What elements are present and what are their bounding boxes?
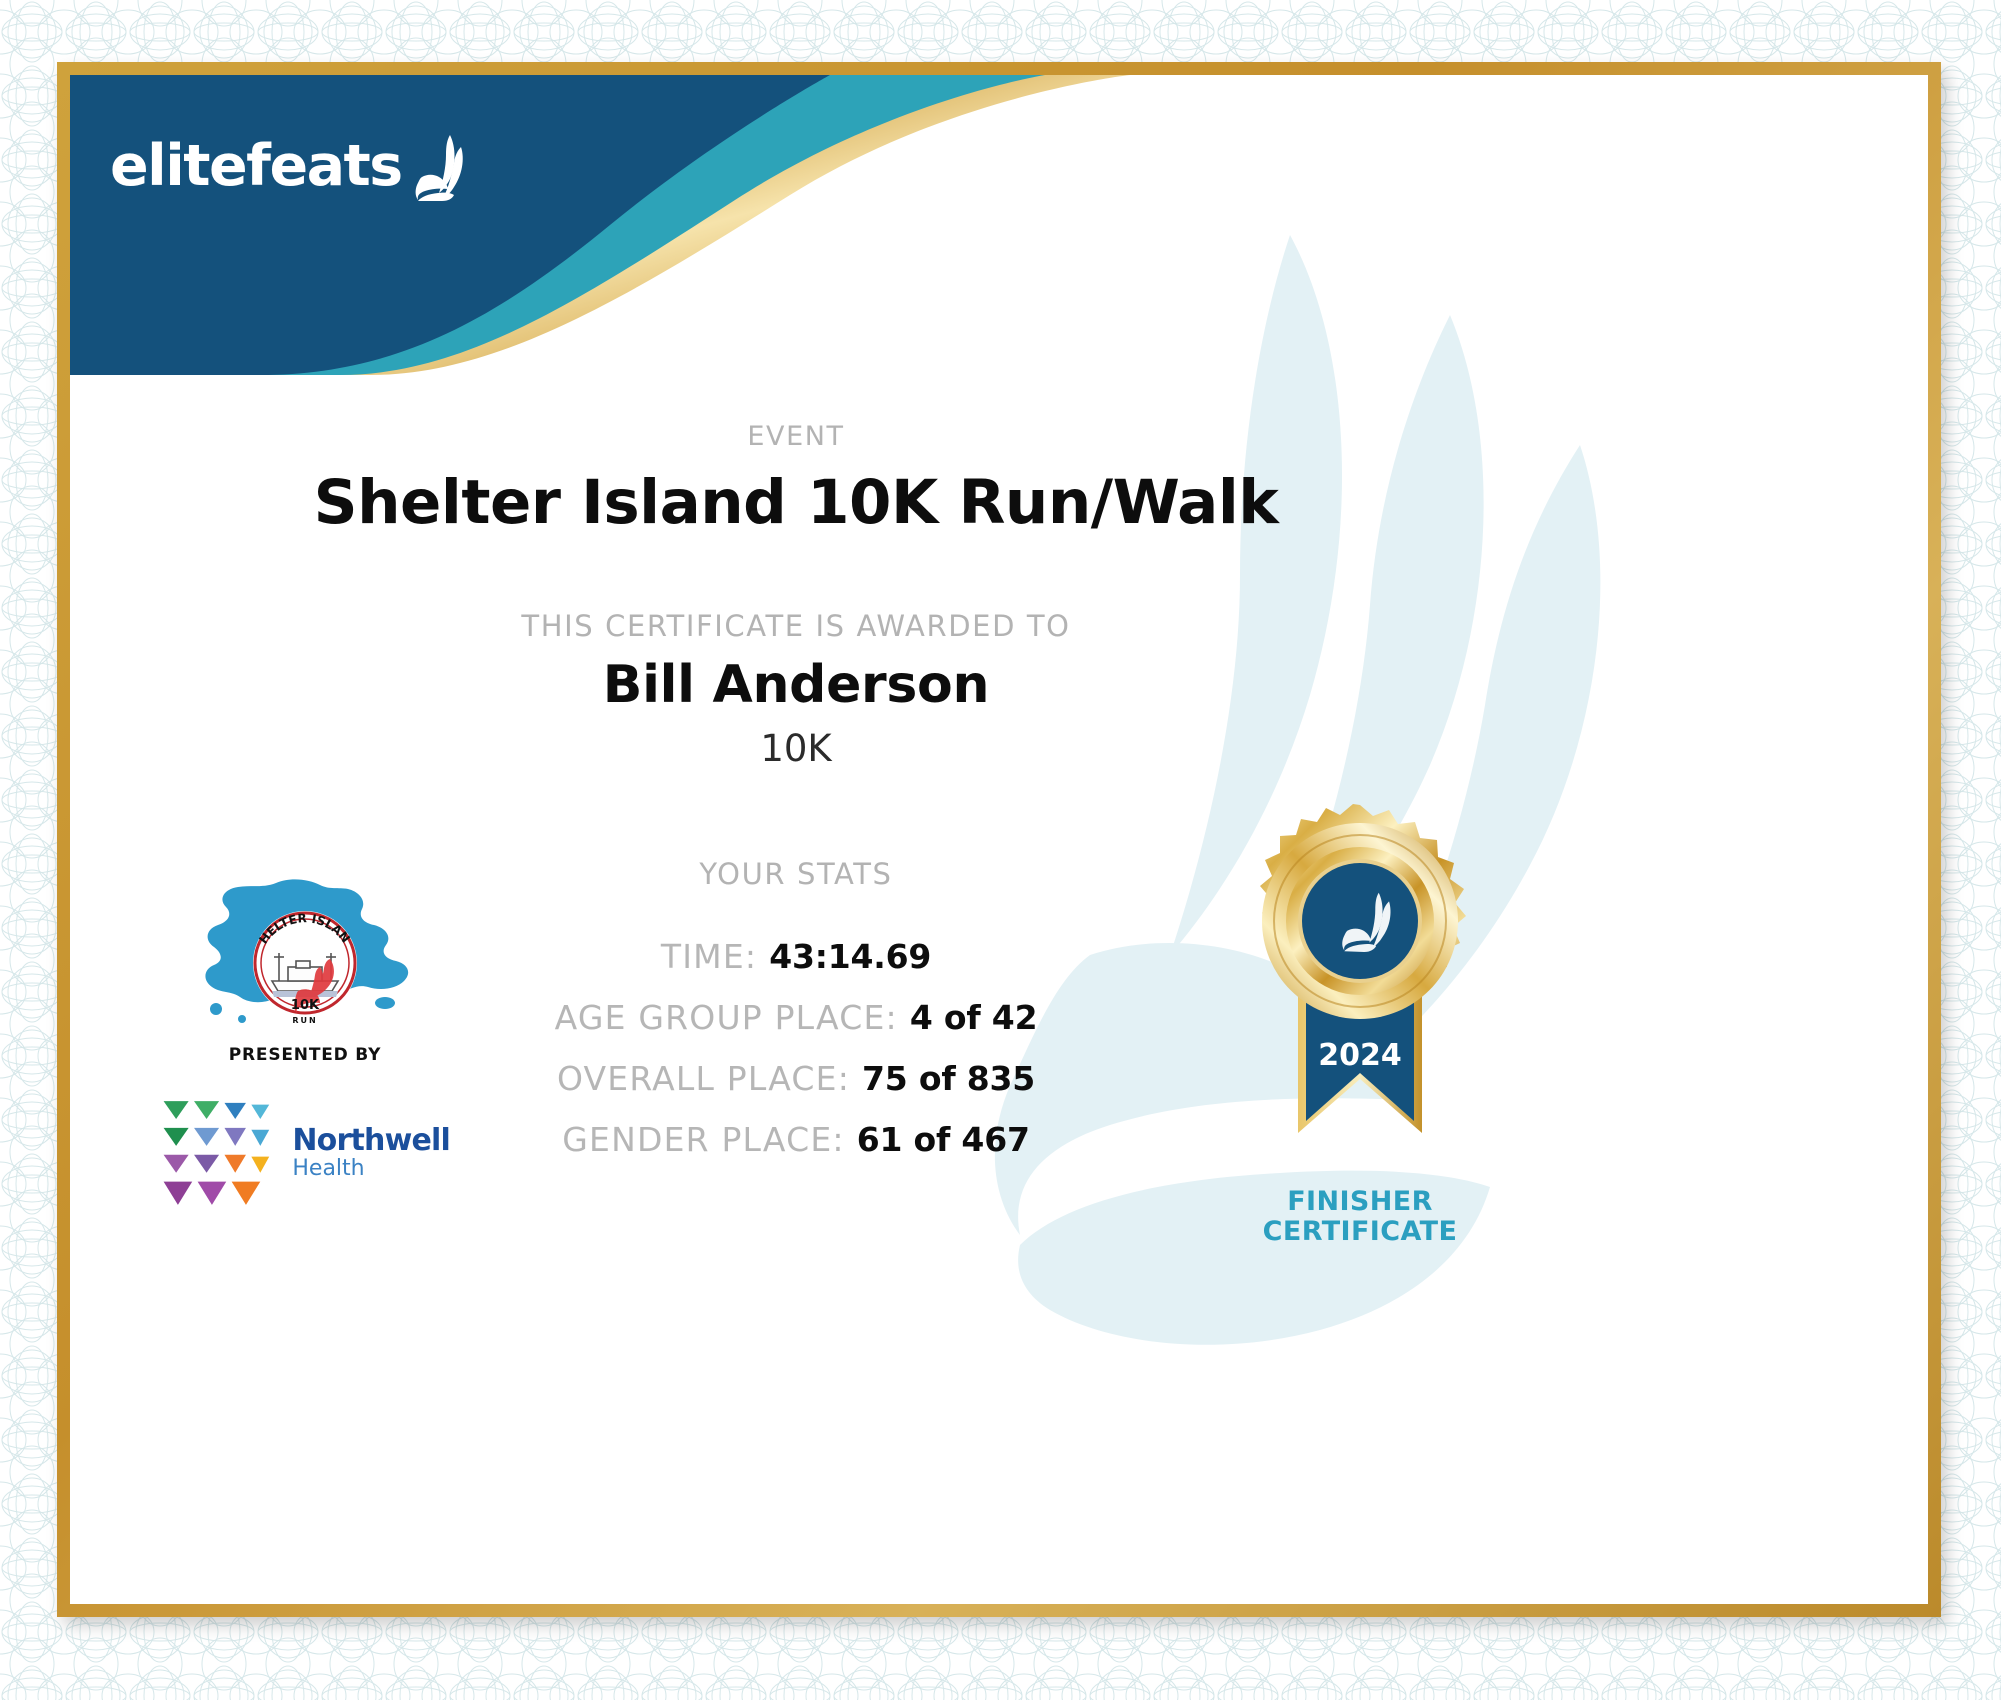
elitefeats-logo: elitefeats xyxy=(110,133,468,195)
certificate-content: EVENT Shelter Island 10K Run/Walk THIS C… xyxy=(70,75,1928,1604)
awarded-to-label: THIS CERTIFICATE IS AWARDED TO xyxy=(70,609,1522,643)
event-title: Shelter Island 10K Run/Walk xyxy=(70,467,1522,538)
event-label: EVENT xyxy=(70,421,1522,452)
finisher-caption: FINISHER CERTIFICATE xyxy=(1210,1187,1510,1247)
stat-key: OVERALL PLACE: xyxy=(557,1059,850,1098)
brand-wordmark: elitefeats xyxy=(110,138,402,195)
medal-ribbon-icon: 2024 xyxy=(1230,803,1490,1183)
certificate-sheet: elitefeats EVENT Shelter Island 10K Run/… xyxy=(70,75,1928,1604)
shelter-island-10k-logo-icon: SHELTER ISLAND xyxy=(180,875,430,1035)
stat-key: GENDER PLACE: xyxy=(562,1120,844,1159)
finisher-medal: 2024 xyxy=(1210,803,1510,1247)
stat-value: 43:14.69 xyxy=(769,937,931,976)
sponsor-name-line2: Health xyxy=(292,1158,450,1180)
stat-key: AGE GROUP PLACE: xyxy=(555,998,898,1037)
stat-value: 61 of 467 xyxy=(857,1120,1030,1159)
finisher-caption-line2: CERTIFICATE xyxy=(1263,1216,1458,1247)
race-logo-block: SHELTER ISLAND xyxy=(160,875,450,1233)
division-label: 10K xyxy=(70,727,1522,770)
recipient-name: Bill Anderson xyxy=(70,655,1522,715)
winged-foot-icon xyxy=(406,133,468,201)
sponsor-logo: Northwell Health xyxy=(160,1073,450,1233)
sponsor-name-line1: Northwell xyxy=(292,1126,450,1156)
medal-year: 2024 xyxy=(1318,1038,1402,1073)
certificate-page: elitefeats EVENT Shelter Island 10K Run/… xyxy=(0,0,2001,1700)
finisher-caption-line1: FINISHER xyxy=(1287,1186,1433,1217)
certificate-frame: elitefeats EVENT Shelter Island 10K Run/… xyxy=(57,62,1941,1617)
stat-key: TIME: xyxy=(661,937,757,976)
stat-value: 75 of 835 xyxy=(862,1059,1035,1098)
svg-text:RUN: RUN xyxy=(292,1016,317,1025)
presented-by-label: PRESENTED BY xyxy=(160,1045,450,1065)
stat-value: 4 of 42 xyxy=(910,998,1038,1037)
svg-text:10K: 10K xyxy=(291,998,320,1013)
northwell-triangles-icon xyxy=(160,1073,285,1233)
